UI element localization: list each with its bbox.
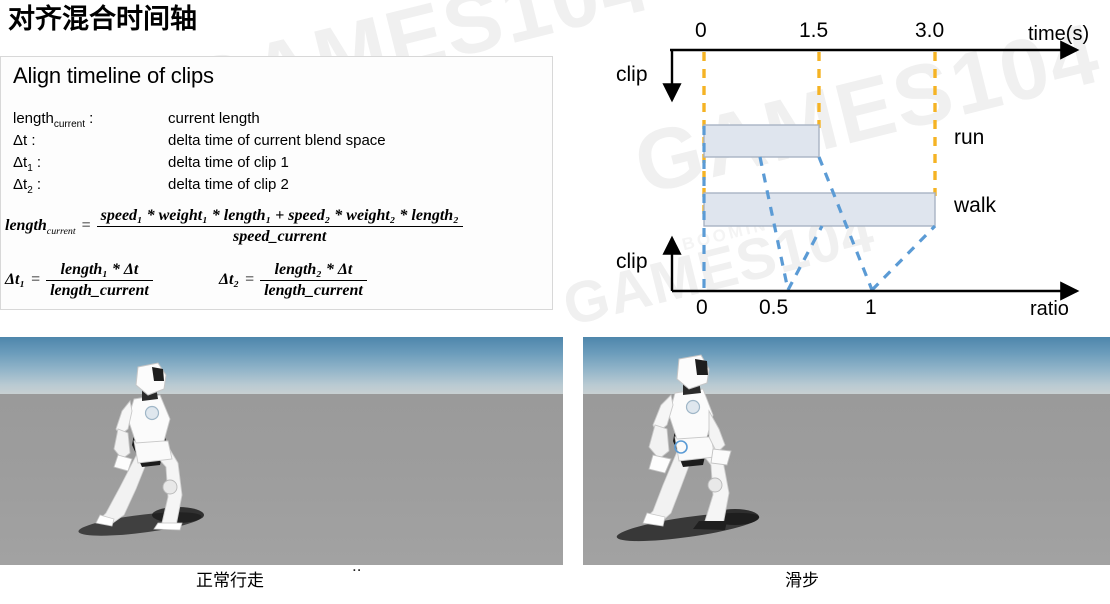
robot-figure-left	[0, 337, 563, 565]
legend-row: lengthcurrent :current length	[13, 110, 260, 133]
legend-desc: delta time of clip 2	[168, 176, 289, 193]
legend-term: Δt1 :	[13, 154, 168, 177]
eq1-equals: =	[80, 217, 93, 234]
eq3-lhs: Δt₂	[219, 271, 239, 288]
eq1-numerator: speed₁ * weight₁ * length₁ + speed₂ * we…	[97, 207, 463, 227]
ratio-tick-1: 0.5	[759, 296, 788, 320]
legend-row: Δt :delta time of current blend space	[13, 132, 386, 155]
eq3-denominator: length_current	[260, 281, 367, 300]
equation-delta-t2: Δt₂ = length₂ * Δt length_current	[219, 261, 367, 300]
eq2-numerator: length₁ * Δt	[46, 261, 153, 281]
series-label-walk: walk	[954, 194, 996, 218]
render-right-sliding	[583, 337, 1110, 565]
timeline-svg	[590, 0, 1110, 330]
time-axis-label: time(s)	[1028, 23, 1089, 46]
time-tick-2: 3.0	[915, 19, 944, 43]
caption-extra-marks: ..	[352, 556, 361, 576]
legend-desc: delta time of clip 1	[168, 154, 289, 171]
clip-label-top: clip	[616, 63, 648, 87]
map-line-walk-end	[872, 226, 935, 290]
legend-row: Δt1 :delta time of clip 1	[13, 154, 289, 177]
eq1-denominator: speed_current	[97, 227, 463, 246]
panel-heading: Align timeline of clips	[13, 63, 214, 89]
legend-row: Δt2 :delta time of clip 2	[13, 176, 289, 199]
eq3-numerator: length₂ * Δt	[260, 261, 367, 281]
eq3-fraction: length₂ * Δt length_current	[260, 261, 367, 300]
equation-delta-t1: Δt₁ = length₁ * Δt length_current	[5, 261, 153, 300]
map-line-walk-mid	[788, 226, 822, 290]
equation-length-current: lengthcurrent = speed₁ * weight₁ * lengt…	[5, 207, 463, 246]
legend-term: Δt :	[13, 132, 168, 155]
render-left-walking	[0, 337, 563, 565]
time-tick-1: 1.5	[799, 19, 828, 43]
eq3-equals: =	[243, 271, 256, 288]
eq2-fraction: length₁ * Δt length_current	[46, 261, 153, 300]
bar-run	[704, 125, 819, 157]
series-label-run: run	[954, 126, 984, 150]
legend-desc: current length	[168, 110, 260, 127]
legend-desc: delta time of current blend space	[168, 132, 386, 149]
page-title: 对齐混合时间轴	[8, 2, 197, 36]
eq2-denominator: length_current	[46, 281, 153, 300]
time-tick-0: 0	[695, 19, 707, 43]
timeline-diagram: 0 1.5 3.0 time(s) clip clip run walk 0 0…	[590, 0, 1110, 330]
ratio-axis-label: ratio	[1030, 298, 1069, 321]
formula-panel: Align timeline of clips lengthcurrent :c…	[0, 56, 553, 310]
eq1-lhs: lengthcurrent	[5, 217, 76, 234]
eq2-lhs: Δt₁	[5, 271, 25, 288]
clip-label-bottom: clip	[616, 250, 648, 274]
ratio-tick-0: 0	[696, 296, 708, 320]
legend-term: lengthcurrent :	[13, 110, 168, 133]
eq2-equals: =	[29, 271, 42, 288]
caption-left: 正常行走	[196, 566, 264, 591]
legend-term: Δt2 :	[13, 176, 168, 199]
bar-walk	[704, 193, 935, 226]
caption-right: 滑步	[785, 566, 819, 591]
eq1-fraction: speed₁ * weight₁ * length₁ + speed₂ * we…	[97, 207, 463, 246]
ratio-tick-2: 1	[865, 296, 877, 320]
robot-figure-right	[583, 337, 1110, 565]
